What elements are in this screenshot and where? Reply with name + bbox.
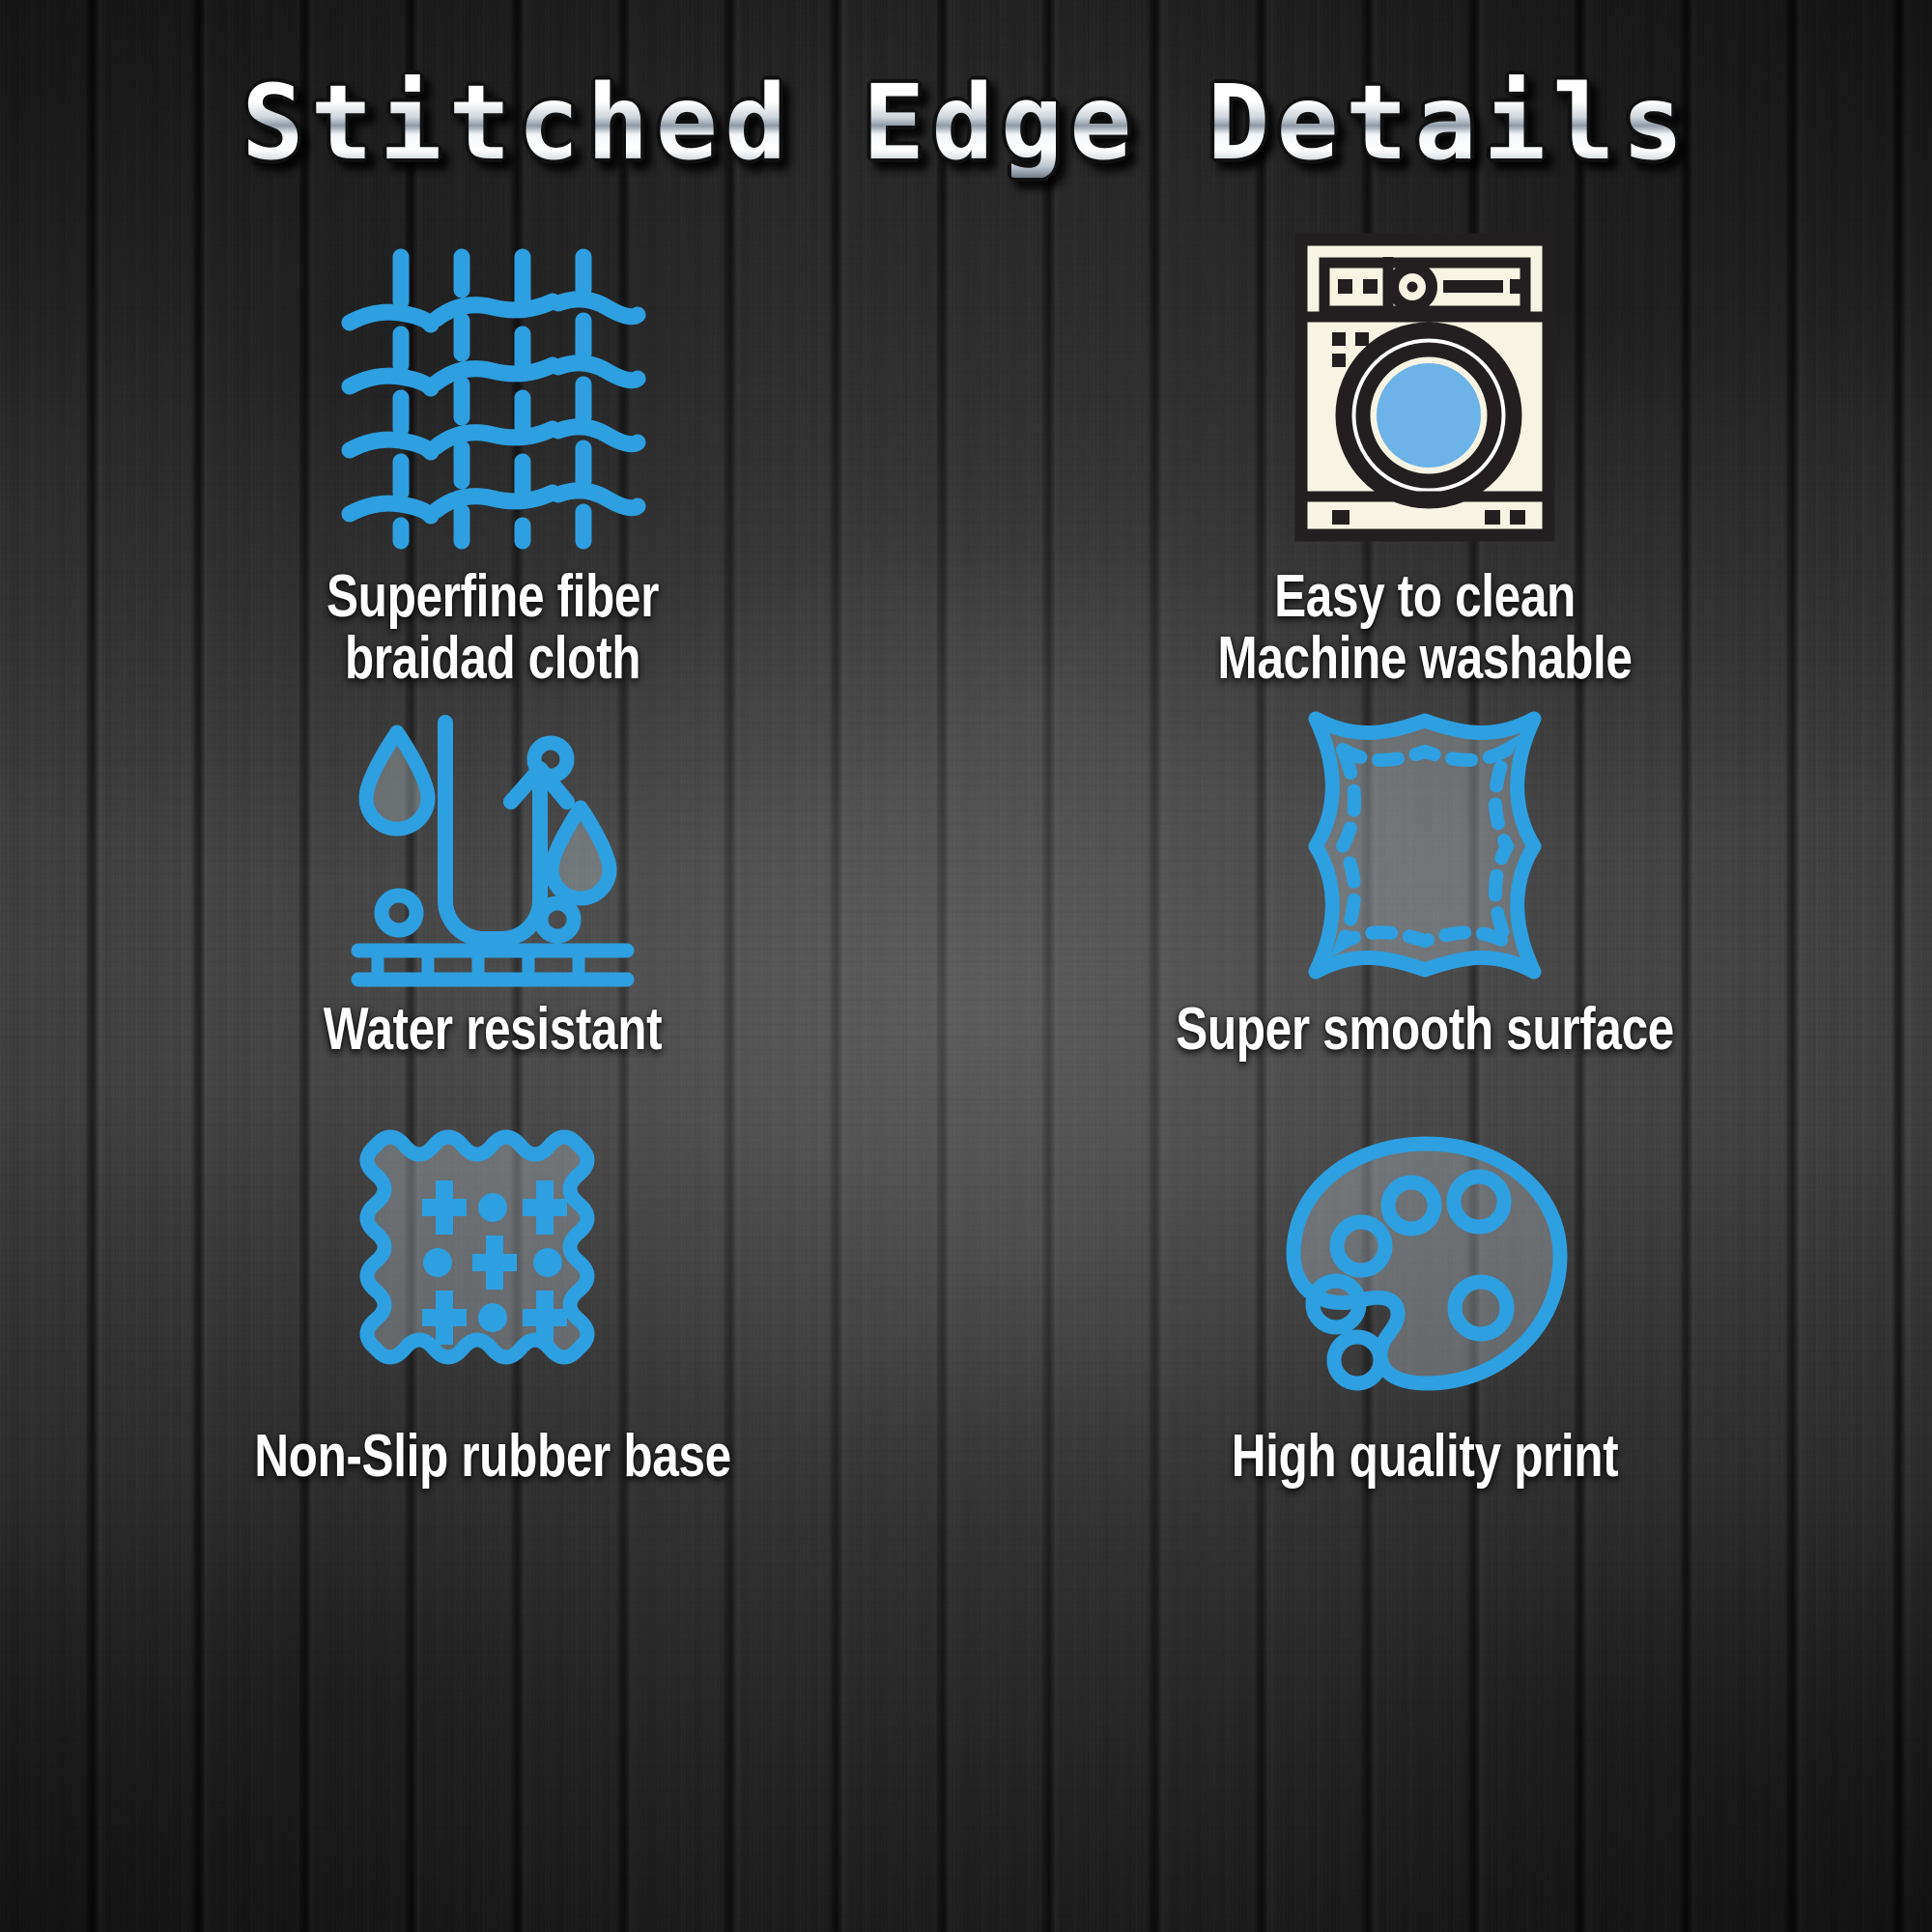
feature-smooth-surface: Super smooth surface <box>976 667 1874 1061</box>
wood-background: Stitched Edge Details <box>0 0 1932 1932</box>
water-repellent-icon <box>58 667 927 985</box>
paint-palette-icon <box>976 1082 1874 1401</box>
feature-superfine-fiber: Superfine fiber braidad cloth <box>58 232 927 691</box>
leather-hide-icon <box>976 667 1874 985</box>
rubber-grip-mat-icon <box>58 1082 927 1401</box>
feature-label: Non-Slip rubber base <box>145 1426 840 1488</box>
feature-machine-washable: Easy to clean Machine washable <box>976 232 1874 691</box>
woven-fabric-icon <box>58 232 927 541</box>
feature-label: High quality print <box>1065 1426 1784 1488</box>
feature-high-quality-print: High quality print <box>976 1082 1874 1488</box>
feature-label: Super smooth surface <box>1065 999 1784 1061</box>
feature-label: Water resistant <box>145 999 840 1061</box>
page-title-container: Stitched Edge Details <box>0 70 1932 178</box>
feature-non-slip-base: Non-Slip rubber base <box>58 1082 927 1488</box>
page-title: Stitched Edge Details <box>241 70 1690 178</box>
feature-water-resistant: Water resistant <box>58 667 927 1061</box>
washing-machine-icon <box>976 232 1874 541</box>
